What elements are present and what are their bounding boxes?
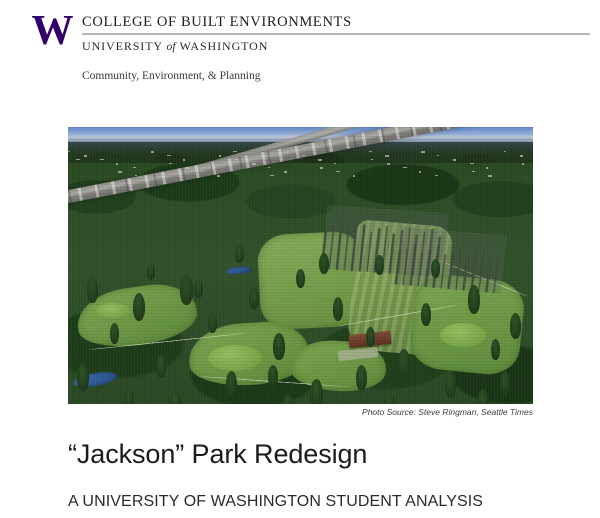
conifer-tree [87, 277, 98, 303]
rooftop [217, 175, 220, 177]
college-name: COLLEGE OF BUILT ENVIRONMENTS [82, 14, 592, 31]
netting-pole [336, 223, 343, 270]
putting-green [440, 323, 486, 347]
rooftop [421, 151, 425, 153]
netting-pole [410, 245, 417, 285]
rooftop [472, 171, 475, 172]
conifer-tree [180, 275, 193, 305]
netting-pole [463, 257, 469, 291]
netting-pole [455, 249, 462, 289]
conifer-tree [273, 333, 285, 360]
conifer-tree [296, 269, 305, 288]
rooftop [470, 163, 474, 164]
hero-figure: Photo Source: Steve Ringman, Seattle Tim… [68, 127, 533, 404]
rooftop [488, 175, 492, 177]
netting-pole [389, 234, 395, 274]
rooftop [437, 155, 439, 156]
putting-green [96, 303, 130, 318]
conifer-tree [194, 279, 203, 298]
rooftop [486, 167, 488, 169]
rooftop [68, 151, 70, 152]
rooftop [284, 171, 287, 173]
conifer-tree [468, 285, 480, 314]
rooftop [84, 155, 87, 157]
conifer-tree [356, 365, 367, 391]
uw-block-w-logo: W [28, 12, 76, 50]
rooftop [336, 171, 340, 172]
rooftop [118, 171, 122, 173]
netting-pole [478, 251, 485, 291]
rooftop [167, 155, 171, 156]
lockup-divider [82, 33, 590, 35]
netting-pole [448, 252, 454, 289]
rooftop [133, 167, 136, 168]
driving-range-netting [395, 227, 508, 294]
conifer-tree [366, 327, 375, 347]
rooftop [318, 159, 322, 161]
page-header: W COLLEGE OF BUILT ENVIRONMENTS UNIVERSI… [0, 0, 600, 92]
rooftop [371, 159, 373, 160]
netting-pole [366, 232, 372, 272]
brand-lockup: COLLEGE OF BUILT ENVIRONMENTS UNIVERSITY… [82, 14, 592, 83]
conifer-tree [226, 371, 237, 396]
rooftop [135, 175, 137, 176]
rooftop [522, 163, 524, 165]
rooftop [201, 171, 203, 172]
conifer-tree [445, 373, 456, 398]
rooftop [252, 163, 256, 165]
rooftop [419, 171, 421, 173]
conifer-tree [510, 313, 521, 339]
title-block: “Jackson” Park Redesign A UNIVERSITY OF … [68, 437, 568, 513]
university-word-of: of [166, 41, 175, 53]
netting-pole [486, 259, 492, 293]
conifer-tree [375, 255, 384, 275]
university-word-pre: UNIVERSITY [82, 39, 163, 53]
page-subtitle: A UNIVERSITY OF WASHINGTON STUDENT ANALY… [68, 491, 568, 513]
rooftop [100, 159, 104, 160]
netting-pole [402, 248, 408, 285]
rooftop [453, 159, 456, 161]
conifer-tree [333, 297, 343, 321]
netting-pole [418, 253, 424, 287]
conifer-tree [249, 287, 259, 309]
conifer-tree [208, 313, 217, 333]
rooftop [353, 175, 355, 177]
rooftop [435, 175, 438, 176]
rooftop [403, 167, 407, 168]
netting-pole [351, 227, 357, 270]
conifer-tree [133, 293, 145, 321]
conifer-tree [110, 323, 119, 344]
rooftop [320, 167, 323, 169]
conifer-tree [147, 263, 155, 280]
netting-pole [358, 224, 365, 271]
rooftop [286, 151, 288, 153]
netting-pole [328, 226, 334, 269]
rooftop [219, 155, 221, 157]
conifer-tree [156, 355, 166, 378]
netting-pole [493, 256, 499, 293]
conifer-tree [319, 253, 329, 274]
rooftop [504, 151, 506, 152]
conifer-tree [124, 389, 134, 404]
conifer-tree [431, 259, 440, 278]
rooftop [268, 167, 270, 168]
rooftop [369, 151, 372, 152]
conifer-tree [77, 363, 89, 391]
rooftop [520, 155, 523, 157]
conifer-tree [398, 349, 410, 377]
aerial-photo [68, 127, 533, 404]
conifer-tree [268, 365, 278, 387]
photo-credit: Photo Source: Steve Ringman, Seattle Tim… [68, 406, 533, 418]
university-word-post: WASHINGTON [180, 39, 269, 53]
rooftop [169, 163, 172, 164]
netting-pole [440, 255, 446, 289]
page-title: “Jackson” Park Redesign [68, 437, 568, 471]
program-name: Community, Environment, & Planning [82, 69, 592, 83]
conifer-tree [310, 379, 323, 404]
putting-green [208, 345, 262, 371]
rooftop [235, 159, 238, 160]
rooftop [302, 155, 305, 156]
rooftop [385, 155, 389, 157]
conifer-tree [491, 339, 500, 360]
netting-pole [343, 231, 349, 271]
rooftop [185, 167, 189, 169]
rooftop [151, 151, 154, 153]
university-name: UNIVERSITY of WASHINGTON [82, 39, 592, 55]
rooftop [183, 159, 185, 161]
rooftop [76, 159, 80, 160]
rooftop [387, 163, 390, 165]
rooftop [270, 175, 274, 176]
rooftop [334, 163, 336, 164]
rooftop [233, 151, 237, 152]
rooftop [116, 163, 118, 165]
